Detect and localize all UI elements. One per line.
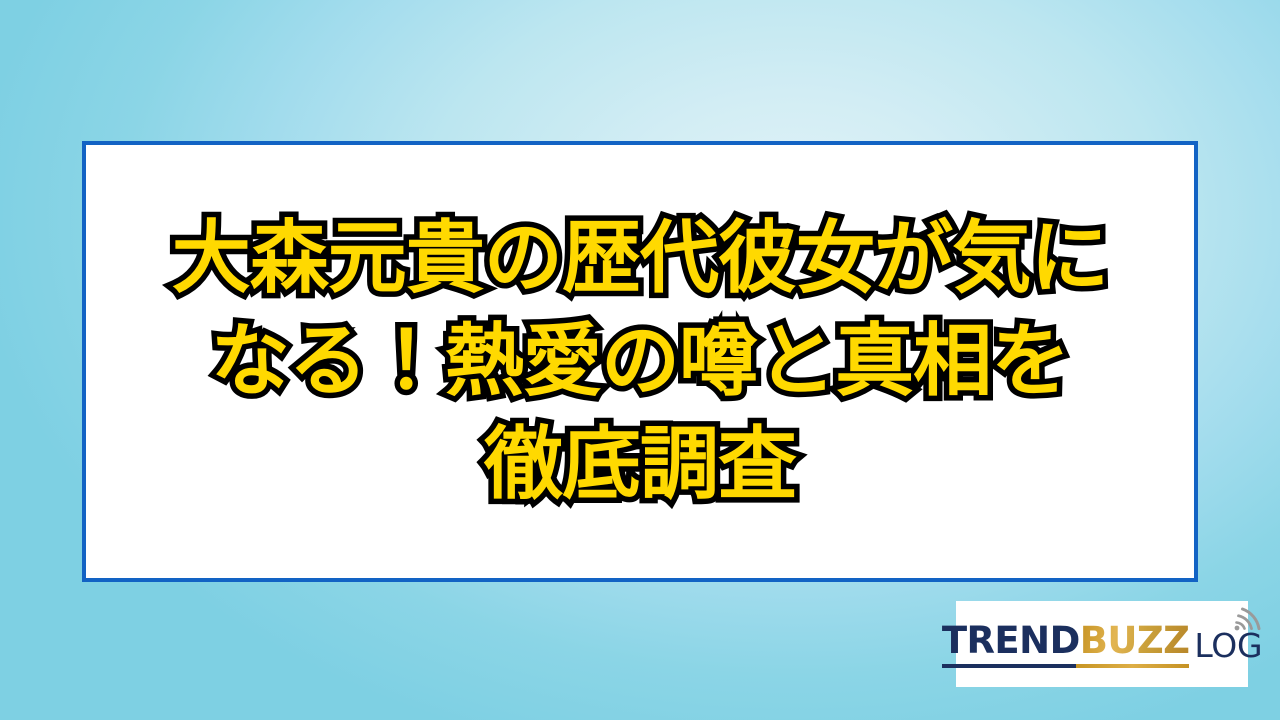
brand-underline-gold <box>1076 664 1190 668</box>
title-line-1: 大森元貴の歴代彼女が気に <box>102 207 1178 310</box>
brand-text-buzz: BUZZ <box>1080 622 1190 659</box>
title-line-3: 徹底調査 <box>102 413 1178 516</box>
brand-text-trend: TREND <box>942 622 1080 659</box>
title-card: 大森元貴の歴代彼女が気に なる！熱愛の噂と真相を 徹底調査 <box>82 141 1198 582</box>
brand-logo: TREND BUZZ LOG <box>942 622 1262 668</box>
brand-underline-navy <box>942 664 1076 668</box>
wifi-signal-icon <box>1231 602 1265 632</box>
brand-wordmark: TREND BUZZ <box>942 622 1190 668</box>
brand-text-log: LOG <box>1194 629 1262 668</box>
brand-words: TREND BUZZ <box>942 622 1190 659</box>
brand-logo-card: TREND BUZZ LOG <box>956 601 1248 687</box>
brand-underline <box>942 664 1190 668</box>
title-text-block: 大森元貴の歴代彼女が気に なる！熱愛の噂と真相を 徹底調査 <box>86 207 1194 515</box>
thumbnail-canvas: 大森元貴の歴代彼女が気に なる！熱愛の噂と真相を 徹底調査 TREND BUZZ… <box>0 0 1280 720</box>
title-line-2: なる！熱愛の噂と真相を <box>102 310 1178 413</box>
